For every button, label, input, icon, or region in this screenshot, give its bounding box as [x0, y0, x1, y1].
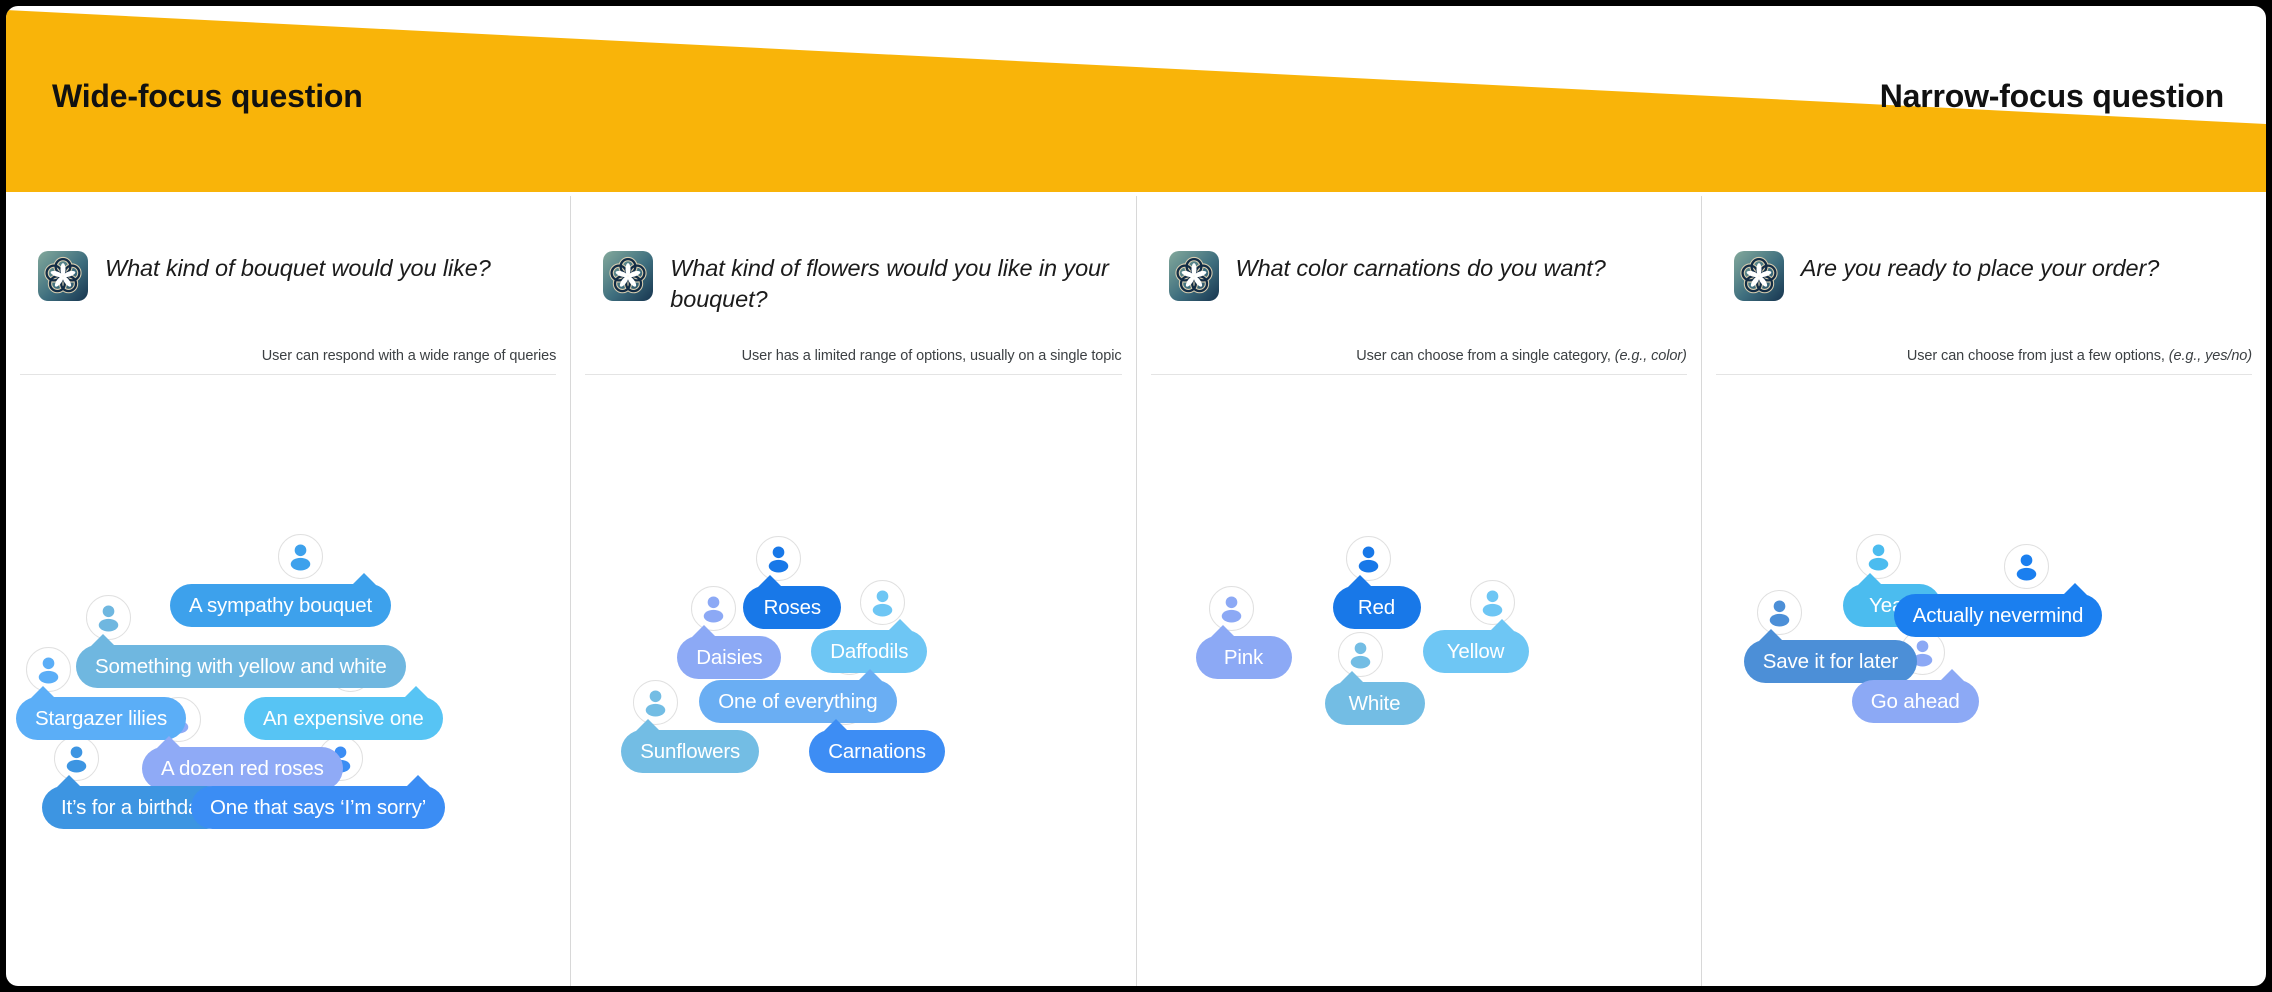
response-bubble[interactable]: Red	[1333, 586, 1421, 629]
question-text: What color carnations do you want?	[1236, 249, 1606, 284]
response-bubble-label: Pink	[1224, 646, 1263, 670]
response-bubble-label: One that says ‘I’m sorry’	[210, 796, 426, 820]
bubble-tail	[887, 619, 913, 632]
bubble-tail	[56, 775, 82, 788]
response-bubble-label: It’s for a birthday	[61, 796, 209, 820]
response-bubble-label: Sunflowers	[640, 740, 740, 764]
response-bubble[interactable]: Roses	[743, 586, 841, 629]
flower-rosette-icon	[1734, 251, 1784, 301]
bubble-tail	[635, 719, 661, 732]
response-bubble[interactable]: A sympathy bouquet	[170, 584, 391, 627]
flower-rosette-icon	[603, 251, 653, 301]
header-band: Wide-focus question Narrow-focus questio…	[6, 6, 2266, 196]
response-bubble[interactable]: Sunflowers	[621, 730, 759, 773]
caption-row: User can respond with a wide range of qu…	[20, 348, 556, 375]
response-bubble[interactable]: Yellow	[1423, 630, 1529, 673]
caption-row: User has a limited range of options, usu…	[585, 348, 1121, 375]
bubble-tail	[691, 625, 717, 638]
question-column-4: Are you ready to place your order?User c…	[1701, 196, 2266, 986]
response-bubble[interactable]: White	[1325, 682, 1425, 725]
caption-text: User can choose from a single category, …	[1151, 348, 1687, 364]
question-column-1: What kind of bouquet would you like?User…	[6, 196, 570, 986]
caption-text: User has a limited range of options, usu…	[585, 348, 1121, 364]
bubble-tail	[90, 634, 116, 647]
wide-focus-label: Wide-focus question	[52, 78, 363, 115]
flower-rosette-icon	[38, 251, 88, 301]
response-bubble-label: Daffodils	[830, 640, 908, 664]
response-bubble[interactable]: Daffodils	[811, 630, 927, 673]
caption-main: User can choose from a single category,	[1356, 348, 1611, 364]
question-text: What kind of bouquet would you like?	[105, 249, 491, 284]
question-row: What color carnations do you want?	[1137, 196, 1701, 346]
caption-italic: (e.g., color)	[1611, 348, 1687, 364]
bubble-tail	[30, 686, 56, 699]
user-avatar-icon	[2004, 544, 2049, 589]
response-bubble-cloud: RosesDaisiesDaffodilsOne of everythingSu…	[571, 386, 1135, 986]
response-bubble[interactable]: A dozen red roses	[142, 747, 343, 790]
question-row: What kind of flowers would you like in y…	[571, 196, 1135, 346]
response-bubble-label: Something with yellow and white	[95, 655, 387, 679]
bubble-tail	[1857, 573, 1883, 586]
caption-main: User can choose from just a few options,	[1907, 348, 2165, 364]
response-bubble-label: Go ahead	[1871, 690, 1960, 714]
response-bubble-cloud: RedPinkYellowWhite	[1137, 386, 1701, 986]
response-bubble[interactable]: Save it for later	[1744, 640, 1917, 683]
response-bubble[interactable]: Something with yellow and white	[76, 645, 406, 688]
question-column-2: What kind of flowers would you like in y…	[570, 196, 1135, 986]
caption-row: User can choose from a single category, …	[1151, 348, 1687, 375]
question-row: What kind of bouquet would you like?	[6, 196, 570, 346]
bubble-tail	[1758, 629, 1784, 642]
diagram-card: Wide-focus question Narrow-focus questio…	[6, 6, 2266, 986]
response-bubble-label: Red	[1358, 596, 1395, 620]
response-bubble[interactable]: One that says ‘I’m sorry’	[191, 786, 445, 829]
response-bubble-label: Daisies	[696, 646, 762, 670]
bubble-tail	[1489, 619, 1515, 632]
response-bubble[interactable]: An expensive one	[244, 697, 443, 740]
response-bubble-label: Roses	[764, 596, 821, 620]
bubble-tail	[403, 686, 429, 699]
caption-main: User has a limited range of options, usu…	[742, 348, 1122, 364]
columns-container: What kind of bouquet would you like?User…	[6, 196, 2266, 986]
question-row: Are you ready to place your order?	[1702, 196, 2266, 346]
caption-text: User can choose from just a few options,…	[1716, 348, 2252, 364]
caption-text: User can respond with a wide range of qu…	[20, 348, 556, 364]
question-column-3: What color carnations do you want?User c…	[1136, 196, 1701, 986]
narrow-focus-label: Narrow-focus question	[1880, 78, 2224, 115]
response-bubble[interactable]: Pink	[1196, 636, 1292, 679]
bubble-tail	[757, 575, 783, 588]
bubble-tail	[156, 736, 182, 749]
bubble-tail	[1347, 575, 1373, 588]
response-bubble-label: A sympathy bouquet	[189, 594, 372, 618]
response-bubble-label: One of everything	[718, 690, 877, 714]
response-bubble[interactable]: One of everything	[699, 680, 896, 723]
flower-rosette-icon	[1734, 251, 1784, 301]
response-bubble-label: An expensive one	[263, 707, 424, 731]
response-bubble[interactable]: Carnations	[809, 730, 945, 773]
bubble-tail	[2062, 583, 2088, 596]
bubble-tail	[1939, 669, 1965, 682]
bubble-tail	[405, 775, 431, 788]
bubble-tail	[1210, 625, 1236, 638]
response-bubble[interactable]: Stargazer lilies	[16, 697, 186, 740]
response-bubble-label: Save it for later	[1763, 650, 1898, 674]
response-bubble-label: Carnations	[828, 740, 926, 764]
caption-italic: (e.g., yes/no)	[2165, 348, 2252, 364]
response-bubble[interactable]: Daisies	[677, 636, 781, 679]
response-bubble-label: White	[1349, 692, 1401, 716]
bubble-tail	[823, 719, 849, 732]
flower-rosette-icon	[1169, 251, 1219, 301]
user-avatar-icon	[278, 534, 323, 579]
response-bubble-label: Yellow	[1447, 640, 1505, 664]
flower-rosette-icon	[38, 251, 88, 301]
response-bubble-cloud: YeahActually nevermindSave it for laterG…	[1702, 386, 2266, 986]
bubble-tail	[351, 573, 377, 586]
response-bubble-cloud: A sympathy bouquetSomething with yellow …	[6, 386, 570, 986]
flower-rosette-icon	[603, 251, 653, 301]
response-bubble[interactable]: Actually nevermind	[1894, 594, 2103, 637]
caption-row: User can choose from just a few options,…	[1716, 348, 2252, 375]
response-bubble-label: A dozen red roses	[161, 757, 324, 781]
bubble-tail	[857, 669, 883, 682]
flower-rosette-icon	[1169, 251, 1219, 301]
response-bubble[interactable]: Go ahead	[1852, 680, 1979, 723]
question-text: Are you ready to place your order?	[1801, 249, 2159, 284]
bubble-tail	[1339, 671, 1365, 684]
response-bubble-label: Actually nevermind	[1913, 604, 2084, 628]
response-bubble-label: Stargazer lilies	[35, 707, 167, 731]
caption-main: User can respond with a wide range of qu…	[262, 348, 557, 364]
question-text: What kind of flowers would you like in y…	[670, 249, 1109, 315]
